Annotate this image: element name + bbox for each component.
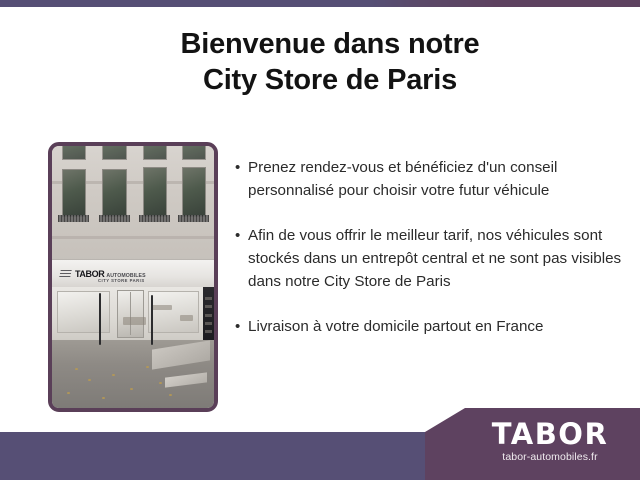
bullet-list: • Prenez rendez-vous et bénéficiez d'un …: [235, 156, 623, 360]
bullet-icon: •: [235, 224, 248, 293]
pavement: [52, 340, 214, 408]
sign-subtitle: CITY STORE PARIS: [98, 278, 145, 283]
slide: Bienvenue dans notre City Store de Paris: [0, 0, 640, 480]
storefront-glass-row: [52, 287, 214, 339]
title-line-1: Bienvenue dans notre: [100, 26, 560, 62]
list-item: • Afin de vous offrir le meilleur tarif,…: [235, 224, 623, 293]
bullet-text: Afin de vous offrir le meilleur tarif, n…: [248, 224, 623, 293]
bullet-icon: •: [235, 156, 248, 202]
storefront-photo: TABOR AUTOMOBILES CITY STORE PARIS: [52, 146, 214, 408]
storefront-photo-frame: TABOR AUTOMOBILES CITY STORE PARIS: [48, 142, 218, 412]
building-facade: [52, 146, 214, 261]
bullet-icon: •: [235, 315, 248, 338]
brand-logo: TABOR tabor-automobiles.fr: [470, 418, 630, 464]
bullet-text: Livraison à votre domicile partout en Fr…: [248, 315, 623, 338]
title-line-2: City Store de Paris: [100, 62, 560, 98]
list-item: • Prenez rendez-vous et bénéficiez d'un …: [235, 156, 623, 202]
side-panel: [203, 287, 214, 339]
logo-wordmark: TABOR: [470, 418, 630, 450]
brand-stripes-icon: [59, 270, 71, 277]
logo-website: tabor-automobiles.fr: [470, 450, 630, 464]
storefront-sign: TABOR AUTOMOBILES CITY STORE PARIS: [52, 259, 214, 290]
list-item: • Livraison à votre domicile partout en …: [235, 315, 623, 338]
page-title: Bienvenue dans notre City Store de Paris: [100, 26, 560, 98]
shop-door: [117, 290, 145, 338]
top-accent-strip: [0, 0, 640, 7]
bullet-text: Prenez rendez-vous et bénéficiez d'un co…: [248, 156, 623, 202]
